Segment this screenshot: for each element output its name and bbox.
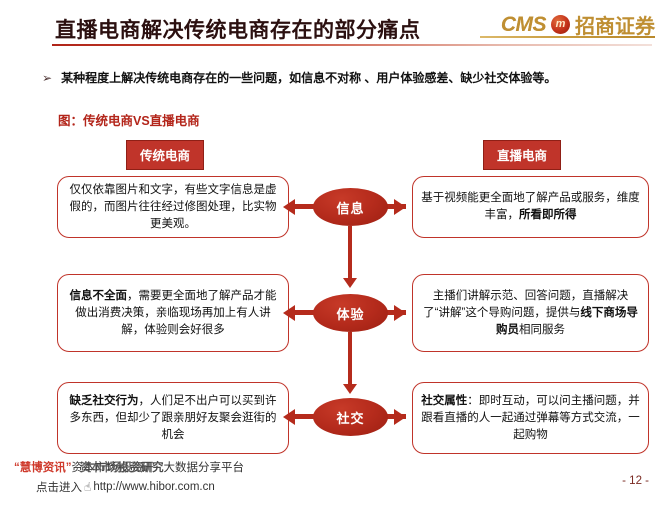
arrow-stub-left-row2 [295,310,315,315]
bullet-arrow-icon: ➢ [42,70,52,86]
node-social: 社交 [313,398,388,436]
title-underline [52,44,652,46]
node-experience: 体验 [313,294,388,332]
card-traditional-information: 仅仅依靠图片和文字，有些文字信息是虚假的，而图片往往经过修图处理，比实物更美观。 [57,176,289,238]
card-traditional-experience: 信息不全面，需要更全面地了解产品才能做出消费决策，亲临现场再加上有人讲解，体验则… [57,274,289,352]
page-number: - 12 - [622,475,649,487]
arrow-right-row1 [394,199,406,215]
card-lead: 缺乏社交行为 [70,395,139,407]
card-text: 信息不全面，需要更全面地了解产品才能做出消费决策，亲临现场再加上有人讲解，体验则… [66,288,280,339]
brand-emblem-icon: m [551,15,570,34]
brand-latin-text: CMS [501,13,546,37]
hibor-url-link[interactable]: http://www.hibor.com.cn [93,481,214,493]
card-body: 仅仅依靠图片和文字，有些文字信息是虚假的，而图片往往经过修图处理，比实物更美观。 [70,184,277,230]
card-lead: 社交属性 [421,395,467,407]
brand-underline [480,36,655,38]
node-information: 信息 [313,188,388,226]
card-text: 缺乏社交行为，人们足不出户可以买到许多东西，但却少了跟亲朋好友聚会逛街的机会 [66,393,280,444]
watermark-brand: “慧博资讯” [14,462,72,474]
page-title: 直播电商解决传统电商存在的部分痛点 [55,14,421,44]
card-traditional-social: 缺乏社交行为，人们足不出户可以买到许多东西，但却少了跟亲朋好友聚会逛街的机会 [57,382,289,454]
card-livestream-experience: 主播们讲解示范、回答问题，直播解决了“讲解”这个导购问题，提供与线下商场导购员相… [412,274,649,352]
page-header: 直播电商解决传统电商存在的部分痛点 CMS m 招商证券 [0,0,671,52]
connector-line-2 [348,332,352,386]
pointing-hand-icon: ☝ [84,480,91,494]
bullet-row: ➢ 某种程度上解决传统电商存在的一些问题，如信息不对称 、用户体验感差、缺少社交… [42,70,556,86]
card-lead: 信息不全面 [70,290,128,302]
column-header-livestream: 直播电商 [483,140,561,170]
arrow-left-row1 [283,199,295,215]
card-tail: 相同服务 [519,324,565,336]
bullet-text: 某种程度上解决传统电商存在的一些问题，如信息不对称 、用户体验感差、缺少社交体验… [61,70,556,86]
watermark-link-row[interactable]: 点击进入 ☝ http://www.hibor.com.cn [36,479,215,495]
watermark-ghost-overlay: 资本市场投资研究 [80,459,162,475]
page-footer: “慧博资讯”资本市场投资研究大数据分享平台 资本市场投资研究 点击进入 ☝ ht… [0,455,671,510]
card-livestream-social: 社交属性：即时互动，可以问主播问题，并跟看直播的人一起通过弹幕等方式交流，一起购… [412,382,649,454]
arrow-stub-left-row3 [295,414,315,419]
comparison-diagram: 传统电商 直播电商 仅仅依靠图片和文字，有些文字信息是虚假的，而图片往往经过修图… [0,132,671,452]
card-livestream-information: 基于视频能更全面地了解产品或服务，维度丰富，所看即所得 [412,176,649,238]
arrow-left-row2 [283,305,295,321]
enter-label: 点击进入 [36,479,82,495]
connector-arrow-1 [343,278,357,288]
card-emphasis: 所看即所得 [519,209,577,221]
connector-line-1 [348,226,352,280]
brand-logo: CMS m 招商证券 [501,10,655,39]
arrow-left-row3 [283,409,295,425]
column-header-traditional: 传统电商 [126,140,204,170]
figure-caption: 图：传统电商VS直播电商 [58,110,200,129]
card-text: 主播们讲解示范、回答问题，直播解决了“讲解”这个导购问题，提供与线下商场导购员相… [421,288,640,339]
connector-arrow-2 [343,384,357,394]
brand-chinese-text: 招商证券 [575,10,655,39]
card-text: 基于视频能更全面地了解产品或服务，维度丰富，所看即所得 [421,190,640,224]
arrow-right-row3 [394,409,406,425]
card-text: 社交属性：即时互动，可以问主播问题，并跟看直播的人一起通过弹幕等方式交流，一起购… [421,393,640,444]
card-text: 仅仅依靠图片和文字，有些文字信息是虚假的，而图片往往经过修图处理，比实物更美观。 [66,182,280,233]
arrow-stub-left-row1 [295,204,315,209]
arrow-right-row2 [394,305,406,321]
